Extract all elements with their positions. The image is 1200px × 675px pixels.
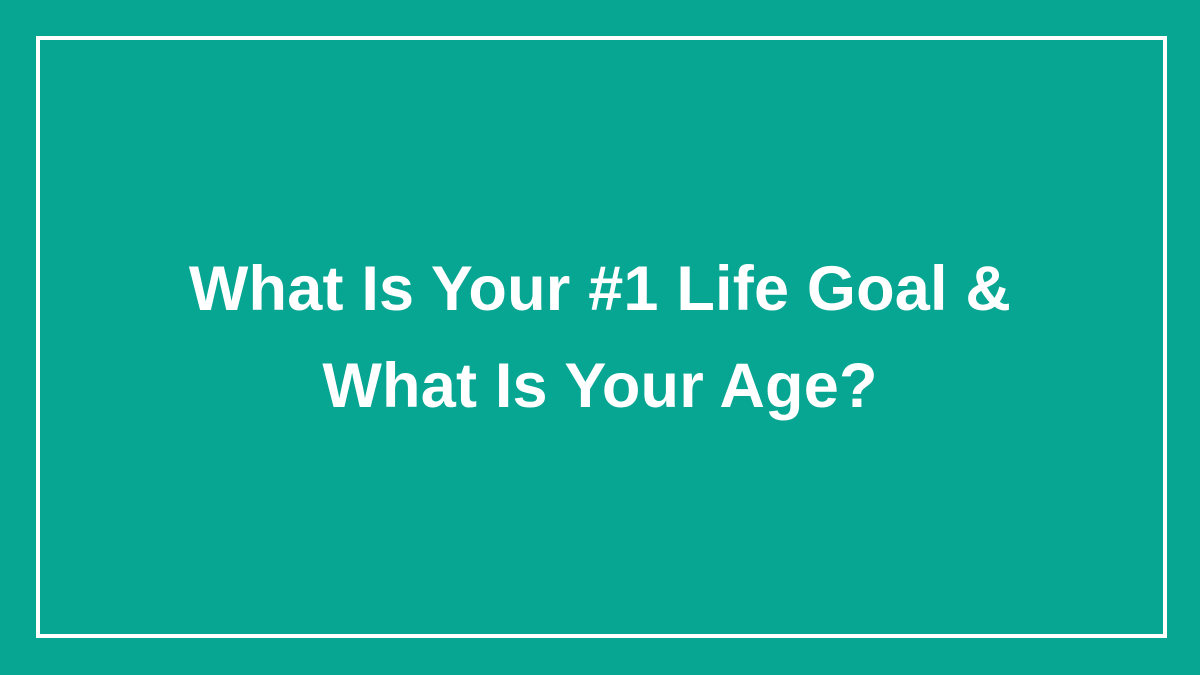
headline-block: What Is Your #1 Life Goal & What Is Your… bbox=[0, 0, 1200, 675]
page-title-line-1: What Is Your #1 Life Goal & bbox=[189, 241, 1011, 338]
page-title: What Is Your #1 Life Goal & What Is Your… bbox=[189, 241, 1011, 435]
page-title-line-2: What Is Your Age? bbox=[189, 338, 1011, 435]
slide-canvas: What Is Your #1 Life Goal & What Is Your… bbox=[0, 0, 1200, 675]
